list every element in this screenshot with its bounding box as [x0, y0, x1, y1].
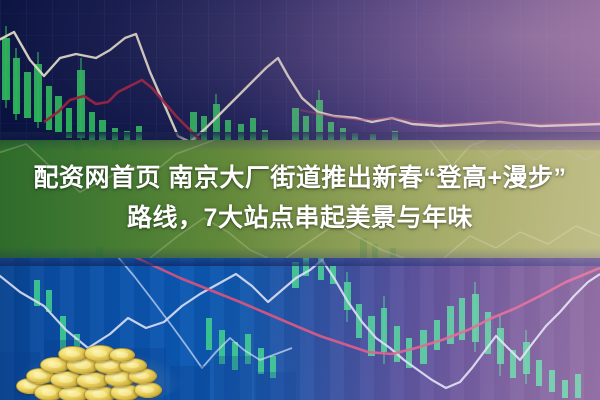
headline-line-1: 配资网首页 南京大厂街道推出新春“登高+漫步”	[0, 158, 600, 198]
page-title: 配资网首页 南京大厂街道推出新春“登高+漫步” 路线，7大站点串起美景与年味	[0, 158, 600, 238]
gold-coin-pile	[14, 344, 174, 400]
news-banner-image: 配资网首页 南京大厂街道推出新春“登高+漫步” 路线，7大站点串起美景与年味	[0, 0, 600, 400]
top-candlestick-bars	[2, 38, 398, 145]
candlestick-chart-top	[0, 0, 600, 146]
gold-coin	[134, 382, 162, 398]
headline-line-2: 路线，7大站点串起美景与年味	[0, 198, 600, 238]
top-secondary-red-line	[300, 110, 600, 124]
gold-coin	[109, 348, 135, 362]
top-candlestick-wicks	[6, 26, 319, 146]
